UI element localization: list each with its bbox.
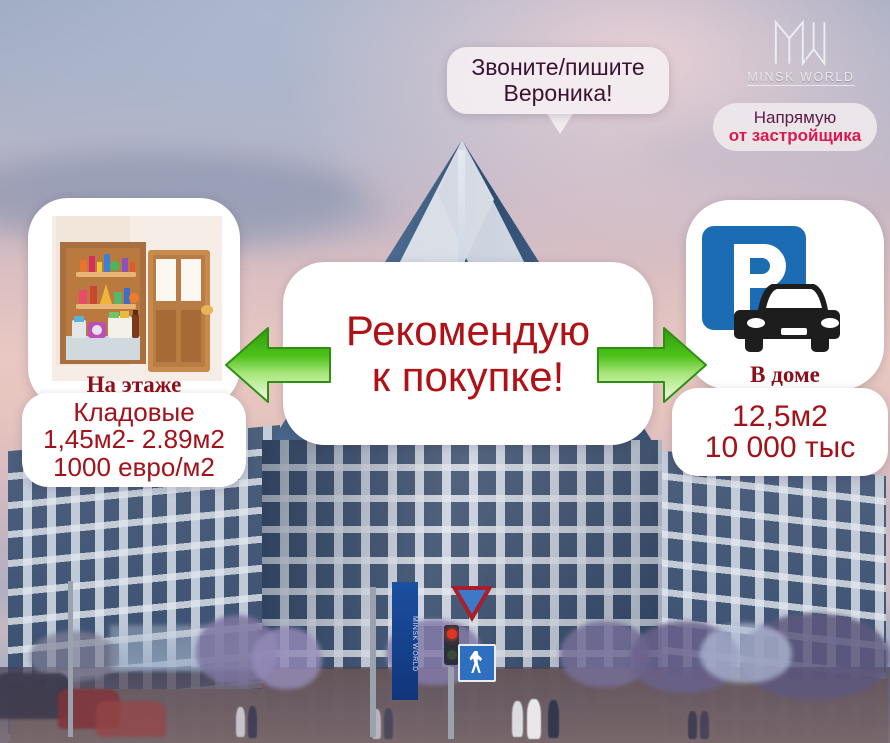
speech-bubble-tail xyxy=(546,112,574,134)
yield-sign xyxy=(451,586,493,622)
left-callout-line-2: 1,45м2- 2.89м2 xyxy=(43,426,225,453)
advertisement-image: MINSK WORLD Звоните/пишите Вероника! xyxy=(0,0,890,743)
car xyxy=(96,701,166,737)
lamp-post xyxy=(68,581,73,737)
badge-line2: от застройщика xyxy=(729,127,861,145)
center-callout-line2: к покупке! xyxy=(372,354,565,399)
pedestrian xyxy=(700,711,709,739)
badge-line1: Напрямую xyxy=(754,109,837,127)
mw-monogram-icon xyxy=(765,16,837,68)
traffic-pole xyxy=(448,667,454,739)
left-callout-details: Кладовые 1,45м2- 2.89м2 1000 евро/м2 xyxy=(22,393,246,487)
speech-bubble-line2: Вероника! xyxy=(503,80,612,106)
arrow-left-green-icon xyxy=(222,322,334,408)
pedestrian xyxy=(236,707,245,737)
center-callout-line1: Рекомендую xyxy=(346,308,590,353)
traffic-light-green xyxy=(447,650,457,660)
tree xyxy=(252,627,322,689)
speech-bubble-line1: Звоните/пишите xyxy=(471,54,644,80)
pedestrian xyxy=(384,708,393,739)
speech-bubble: Звоните/пишите Вероника! xyxy=(447,47,669,114)
sign-pole xyxy=(370,587,376,737)
left-callout-line-1: Кладовые xyxy=(73,399,194,426)
pedestrian xyxy=(248,706,257,738)
tree xyxy=(700,623,792,683)
pedestrian-crossing-sign xyxy=(458,644,496,682)
pedestrian xyxy=(527,699,541,739)
traffic-light-red xyxy=(447,629,457,639)
storage-room-icon xyxy=(52,216,222,381)
parking-sign-with-car-icon xyxy=(700,224,852,364)
right-callout-title: В доме xyxy=(686,362,884,388)
right-callout-line-1: 12,5м2 xyxy=(732,401,828,433)
brand-logo: MINSK WORLD xyxy=(742,16,860,96)
traffic-light xyxy=(444,625,459,665)
pedestrian xyxy=(688,711,697,739)
building-banner-text: MINSK WORLD xyxy=(411,616,418,672)
pedestrian xyxy=(548,700,559,738)
arrow-right-green-icon xyxy=(592,322,710,408)
speech-bubble-text: Звоните/пишите Вероника! xyxy=(471,55,644,107)
left-callout-title: На этаже xyxy=(28,372,240,398)
right-callout-line-2: 10 000 тыс xyxy=(705,432,855,464)
direct-from-developer-badge: Напрямую от застройщика xyxy=(713,103,877,151)
brand-name: MINSK WORLD xyxy=(747,70,854,86)
left-callout-line-3: 1000 евро/м2 xyxy=(53,454,215,481)
building-banner: MINSK WORLD xyxy=(392,582,418,700)
pedestrian xyxy=(512,701,523,737)
